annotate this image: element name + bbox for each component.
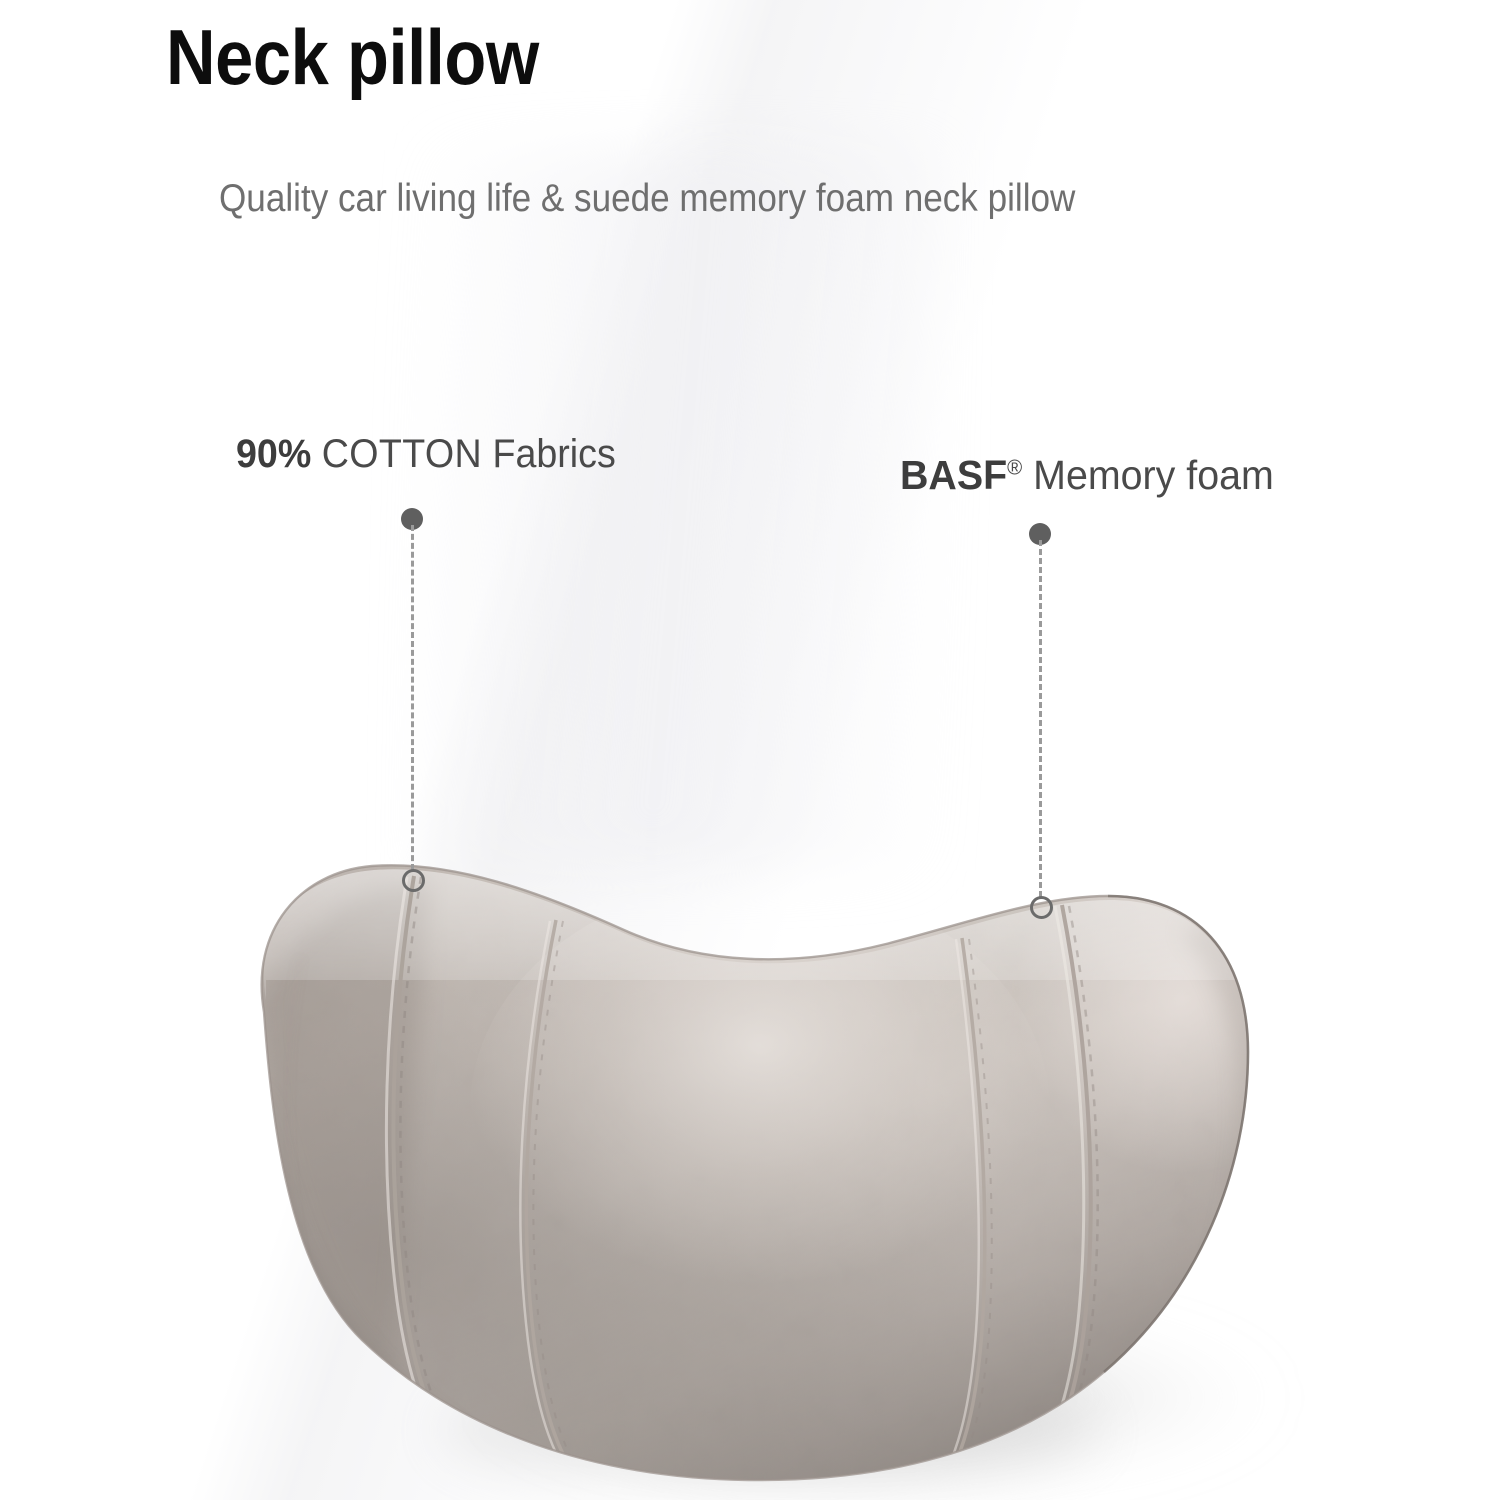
- registered-trademark-icon: ®: [1007, 455, 1022, 479]
- callout-cotton-caps: COTTON: [322, 432, 482, 476]
- product-image: [0, 0, 1500, 1500]
- callout-cotton-regular: Fabrics: [492, 432, 615, 476]
- leader-ring-basf-memory-foam: [1030, 896, 1053, 919]
- leader-dash-cotton-fabrics: [411, 525, 414, 870]
- callout-basf-regular: Memory foam: [1033, 452, 1274, 498]
- callout-label-cotton-fabrics: 90% COTTON Fabrics: [236, 432, 616, 477]
- callout-label-basf-memory-foam: BASF® Memory foam: [900, 452, 1274, 499]
- callout-basf-brand: BASF: [900, 452, 1007, 498]
- leader-dash-basf-memory-foam: [1039, 540, 1042, 897]
- leader-ring-cotton-fabrics: [402, 869, 425, 892]
- neck-pillow-illustration: [0, 0, 1500, 1500]
- callout-cotton-percent: 90%: [236, 432, 311, 476]
- product-infographic: Neck pillow Quality car living life & su…: [0, 0, 1500, 1500]
